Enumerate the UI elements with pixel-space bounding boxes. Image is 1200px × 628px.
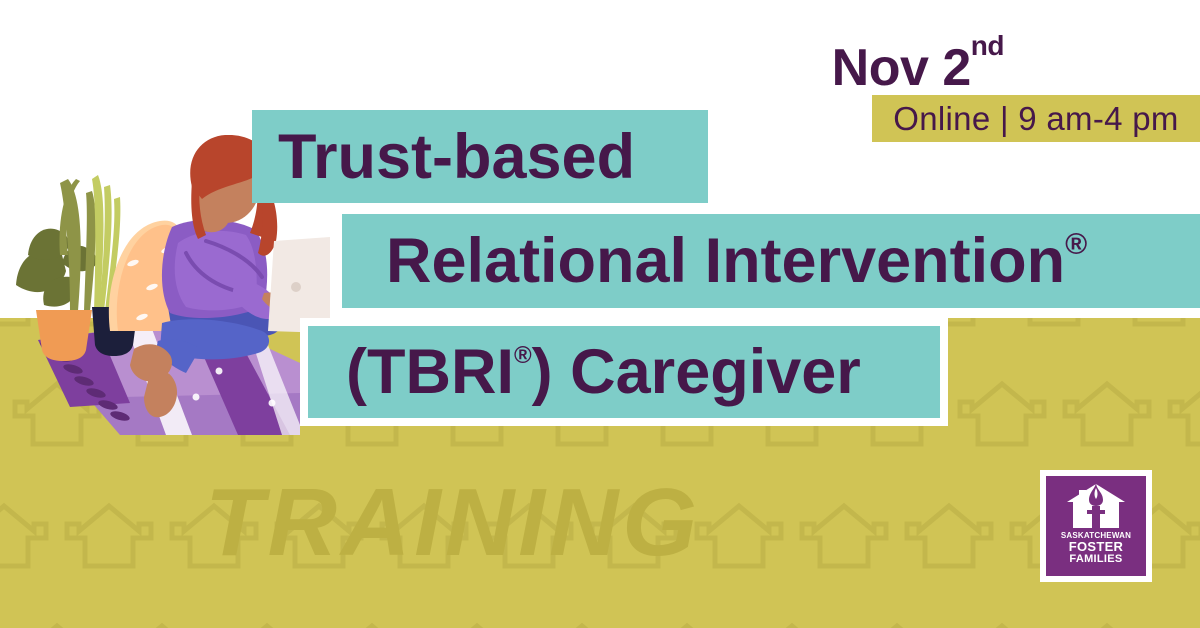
organization-logo: SASKATCHEWAN FOSTER FAMILIES bbox=[1040, 470, 1152, 582]
title-line2-text: Relational Intervention bbox=[386, 225, 1065, 297]
title-line3-suffix-text: ) Caregiver bbox=[532, 336, 861, 408]
logo-wordmark: SASKATCHEWAN FOSTER FAMILIES bbox=[1061, 532, 1131, 566]
registered-trademark-icon-line3: ® bbox=[514, 342, 532, 370]
title-band-line2: Relational Intervention® bbox=[342, 214, 1200, 308]
event-time-text: Online | 9 am-4 pm bbox=[893, 100, 1178, 138]
event-date-ordinal: nd bbox=[971, 30, 1004, 61]
logo-line3: FAMILIES bbox=[1061, 554, 1131, 566]
title-band-line3: (TBRI®) Caregiver bbox=[300, 318, 948, 426]
promo-banner: TRAINING bbox=[0, 0, 1200, 628]
logo-inner-panel: SASKATCHEWAN FOSTER FAMILIES bbox=[1046, 476, 1146, 576]
title-line3-prefix-text: (TBRI bbox=[346, 336, 514, 408]
title-band-line1: Trust-based bbox=[252, 110, 708, 203]
event-date: Nov 2nd bbox=[832, 38, 1004, 98]
logo-line2: FOSTER bbox=[1061, 540, 1131, 554]
event-date-text: Nov 2 bbox=[832, 39, 971, 97]
title-line1-text: Trust-based bbox=[278, 121, 635, 193]
event-time-band: Online | 9 am-4 pm bbox=[872, 95, 1200, 142]
training-watermark-text: TRAINING bbox=[205, 468, 701, 578]
house-candle-logo-icon bbox=[1065, 482, 1127, 530]
